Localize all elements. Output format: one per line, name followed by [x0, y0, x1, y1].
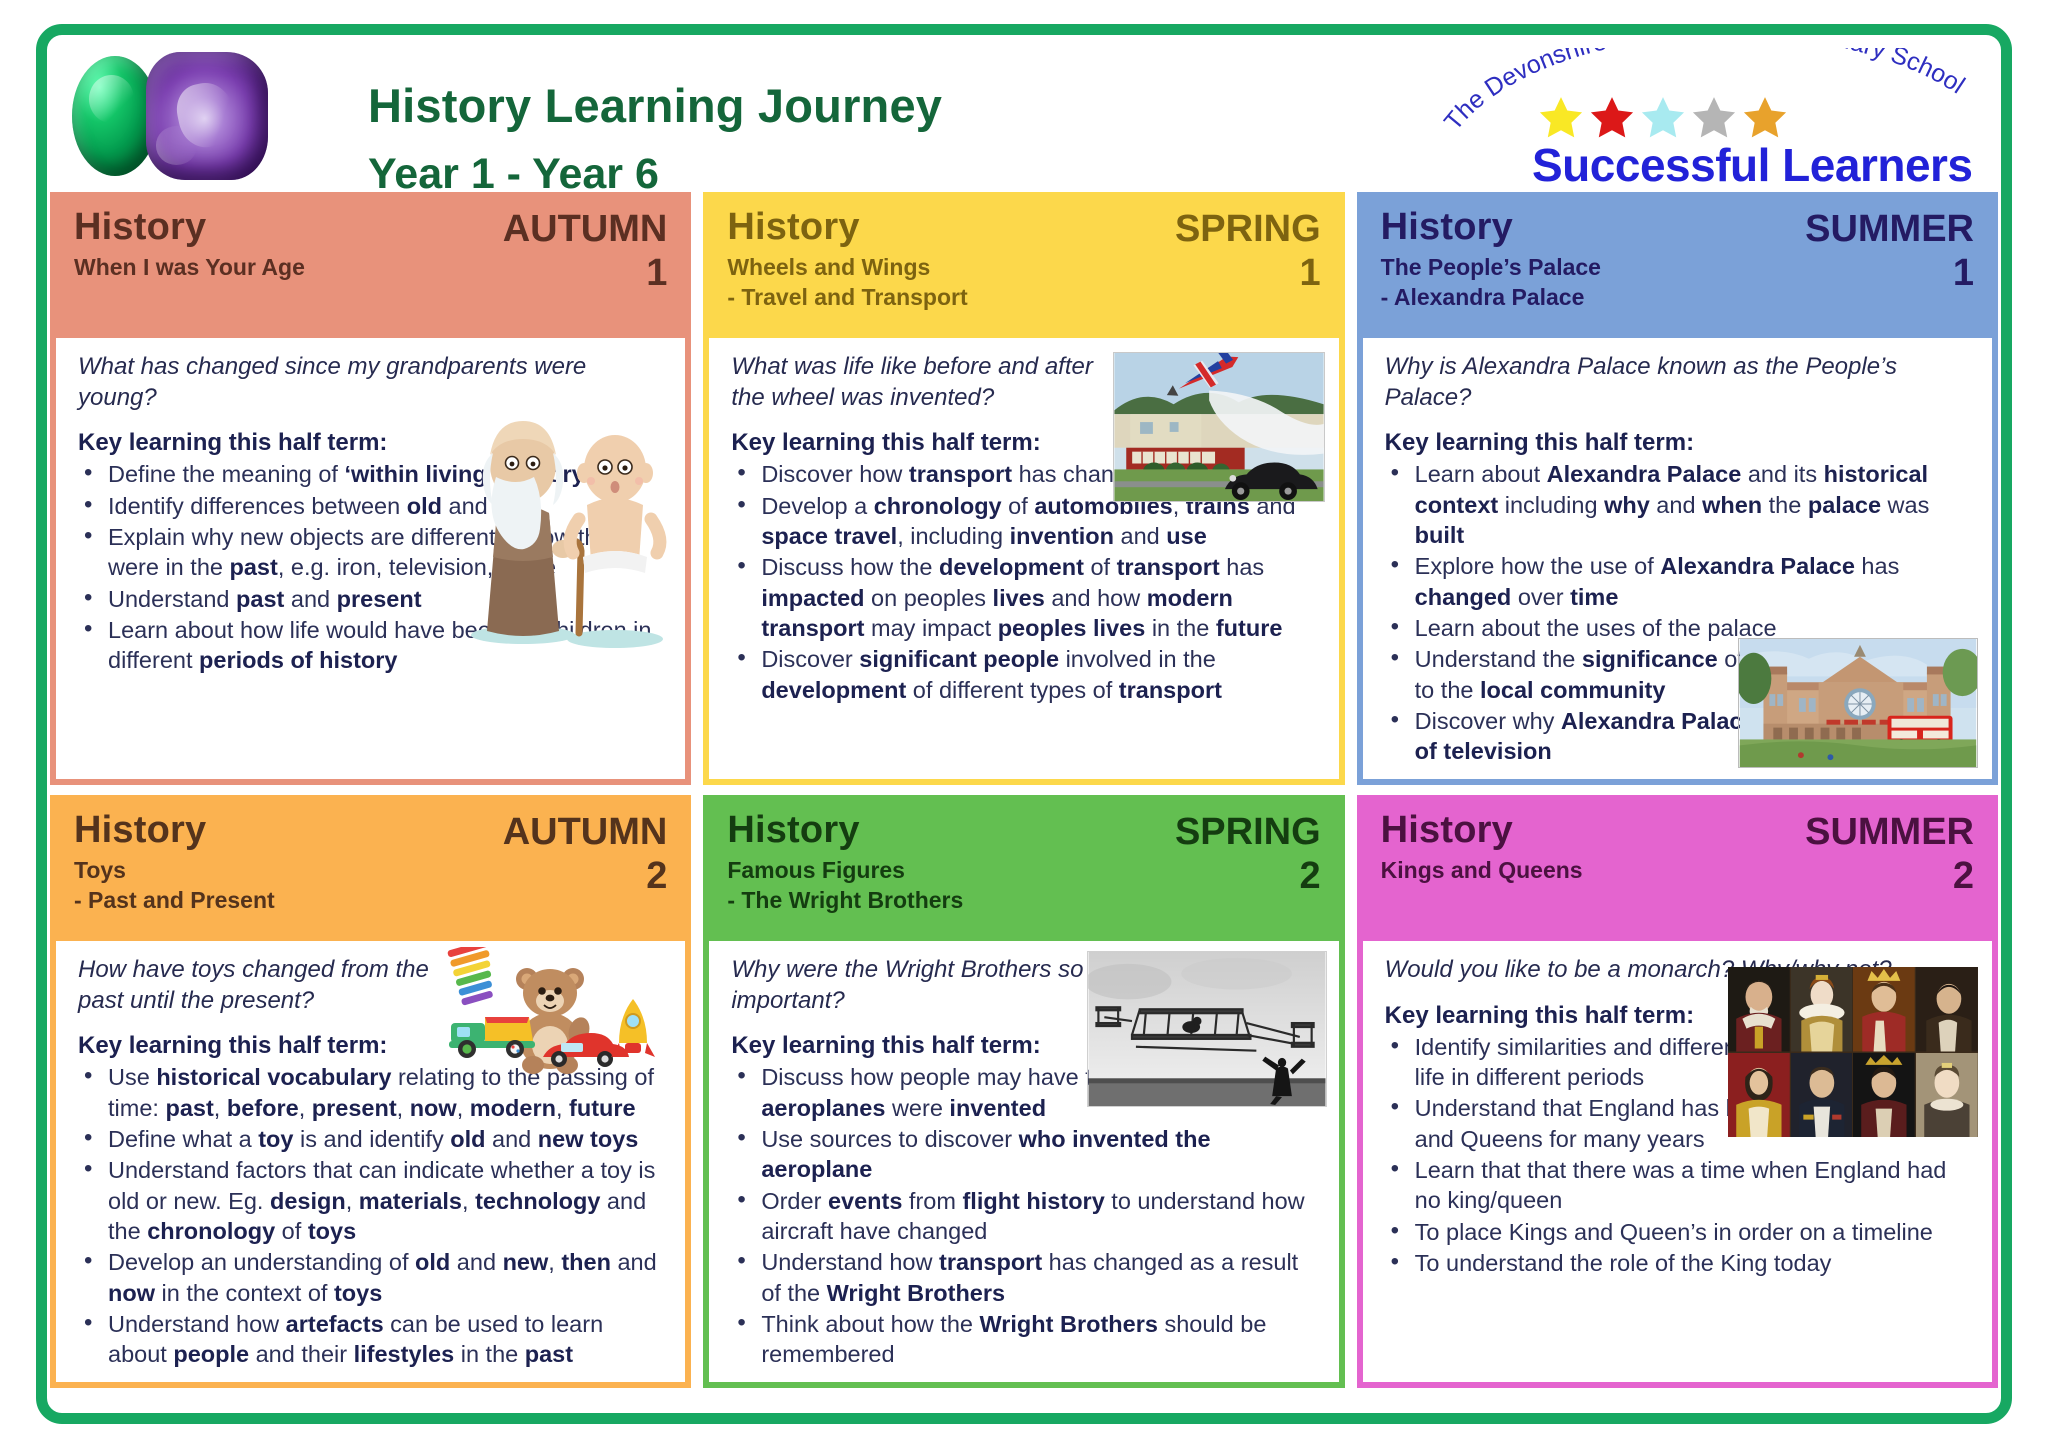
card-term-number: 1 [646, 254, 667, 292]
key-learning-item: Discuss how the development of transport… [761, 552, 1316, 643]
portrait-medieval-king [1853, 967, 1915, 1052]
key-learning-item: Use sources to discover who invented the… [761, 1124, 1316, 1185]
card-body: What was life like before and after the … [715, 338, 1332, 773]
key-learning-item: Learn that that there was a time when En… [1415, 1155, 1970, 1216]
card-term-number: 2 [1300, 857, 1321, 895]
card-body: Would you like to be a monarch? Why/why … [1369, 941, 1986, 1376]
wright-flyer-historic-photo [1087, 951, 1327, 1107]
key-learning-item: Understand how transport has changed as … [761, 1247, 1316, 1308]
card-autumn-1[interactable]: History When I was Your Age AUTUMN 1 Wha… [50, 192, 691, 785]
stunt-plane-and-vintage-car-photo [1113, 352, 1325, 502]
card-header: History Wheels and Wings - Travel and Tr… [709, 198, 1338, 338]
card-enquiry-question: Why is Alexandra Palace known as the Peo… [1385, 352, 1970, 413]
card-body: Why were the Wright Brothers so importan… [715, 941, 1332, 1381]
card-topic-line-1: When I was Your Age [74, 252, 667, 282]
school-strapline: Successful Learners [1532, 138, 1973, 192]
card-header: History When I was Your Age AUTUMN 1 [56, 198, 685, 338]
key-learning-item: Understand how artefacts can be used to … [108, 1309, 663, 1370]
card-topic-line-1: Kings and Queens [1381, 855, 1974, 885]
title-block: History Learning Journey Year 1 - Year 6 [368, 82, 942, 196]
key-learning-item: Understand factors that can indicate whe… [108, 1155, 663, 1246]
card-topic-line-2: - Travel and Transport [727, 282, 1320, 312]
card-season: AUTUMN [503, 210, 668, 248]
card-season: SPRING [1175, 813, 1321, 851]
key-learning-item: Explore how the use of Alexandra Palace … [1415, 551, 1970, 612]
card-season: AUTUMN [503, 813, 668, 851]
card-body: How have toys changed from the past unti… [62, 941, 679, 1381]
portrait-victorian-queen [1916, 1053, 1978, 1138]
key-learning-list: Discuss how people may have tried to fly… [731, 1062, 1316, 1369]
card-spring-2[interactable]: History Famous Figures - The Wright Brot… [703, 795, 1344, 1388]
portrait-elizabethan-queen [1791, 967, 1853, 1052]
monarch-portraits-collage [1728, 967, 1978, 1137]
portrait-richard-iii [1853, 1053, 1915, 1138]
card-header: History Famous Figures - The Wright Brot… [709, 801, 1338, 941]
key-learning-list: Use historical vocabulary relating to th… [78, 1062, 663, 1369]
key-learning-item: To understand the role of the King today [1415, 1248, 1970, 1278]
gemstones-decoration [68, 48, 288, 178]
key-learning-item: Define what a toy is and identify old an… [108, 1124, 663, 1154]
page-title: History Learning Journey [368, 82, 942, 129]
card-topic-line-1: Wheels and Wings [727, 252, 1320, 282]
star-icon-5 [1742, 94, 1788, 140]
learning-journey-poster: History Learning Journey Year 1 - Year 6… [0, 0, 2048, 1448]
key-learning-item: Discover significant people involved in … [761, 644, 1316, 705]
key-learning-item: Order events from flight history to unde… [761, 1186, 1316, 1247]
card-summer-2[interactable]: History Kings and Queens SUMMER 2 Would … [1357, 795, 1998, 1388]
card-topic-line-2: - Past and Present [74, 885, 667, 915]
card-topic-line-1: Toys [74, 855, 667, 885]
key-learning-item: To place Kings and Queen’s in order on a… [1415, 1217, 1970, 1247]
portrait-stuart-monarch [1728, 1053, 1790, 1138]
card-season: SPRING [1175, 210, 1321, 248]
portrait-king-george [1791, 1053, 1853, 1138]
card-autumn-2[interactable]: History Toys - Past and Present AUTUMN 2… [50, 795, 691, 1388]
card-summer-1[interactable]: History The People’s Palace - Alexandra … [1357, 192, 1998, 785]
key-learning-label: Key learning this half term: [1385, 429, 1970, 457]
page-subtitle: Year 1 - Year 6 [368, 153, 942, 196]
card-topic-line-1: The People’s Palace [1381, 252, 1974, 282]
card-topic-line-1: Famous Figures [727, 855, 1320, 885]
card-term-number: 1 [1300, 254, 1321, 292]
card-term-number: 2 [646, 857, 667, 895]
card-spring-1[interactable]: History Wheels and Wings - Travel and Tr… [703, 192, 1344, 785]
card-topic-line-2: - Alexandra Palace [1381, 282, 1974, 312]
portrait-tudor-king [1728, 967, 1790, 1052]
key-learning-item: Think about how the Wright Brothers shou… [761, 1309, 1316, 1370]
key-learning-item: Learn about Alexandra Palace and its his… [1415, 459, 1970, 550]
star-icon-3 [1640, 94, 1686, 140]
portrait-king-profile [1916, 967, 1978, 1052]
star-icon-4 [1691, 94, 1737, 140]
five-stars-row [1538, 94, 1788, 142]
term-cards-grid: History When I was Your Age AUTUMN 1 Wha… [50, 192, 1998, 1388]
childrens-toys-clipart [445, 947, 675, 1087]
card-term-number: 1 [1953, 254, 1974, 292]
card-season: SUMMER [1805, 210, 1974, 248]
card-topic-line-2: - The Wright Brothers [727, 885, 1320, 915]
poster-header: History Learning Journey Year 1 - Year 6… [50, 38, 1998, 184]
school-logo: The Devonshire Hill Nursery and Primary … [1432, 48, 1992, 188]
purple-amethyst-gem-icon [146, 52, 268, 180]
card-term-number: 2 [1953, 857, 1974, 895]
card-header: History The People’s Palace - Alexandra … [1363, 198, 1992, 338]
card-body: Why is Alexandra Palace known as the Peo… [1369, 338, 1986, 778]
star-icon-1 [1538, 94, 1584, 140]
card-body: What has changed since my grandparents w… [62, 338, 679, 773]
alexandra-palace-illustration [1738, 638, 1978, 768]
key-learning-item: Develop an understanding of old and new,… [108, 1247, 663, 1308]
card-header: History Kings and Queens SUMMER 2 [1363, 801, 1992, 941]
grandparent-and-baby-cartoon [463, 393, 673, 653]
card-season: SUMMER [1805, 813, 1974, 851]
card-header: History Toys - Past and Present AUTUMN 2 [56, 801, 685, 941]
star-icon-2 [1589, 94, 1635, 140]
